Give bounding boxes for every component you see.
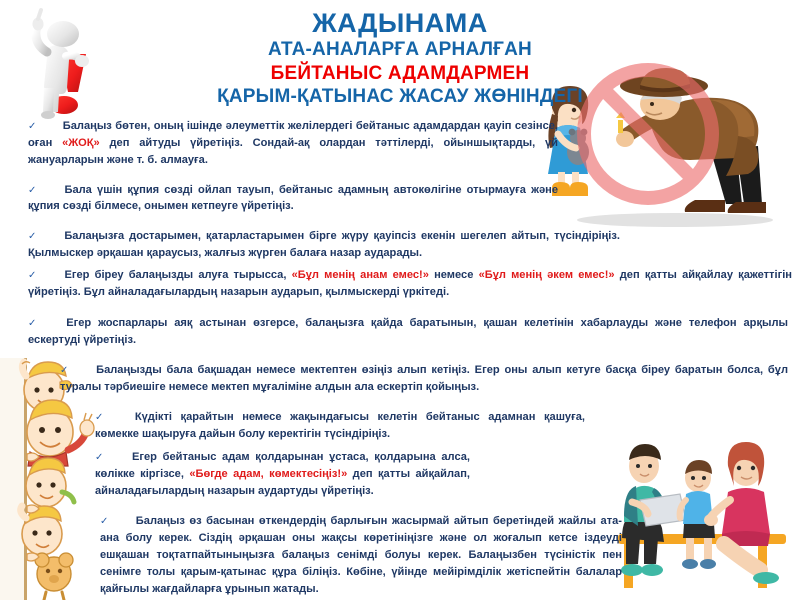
advice-item: ✓Егер жоспарлары аяқ астынан өзгерсе, ба… (28, 315, 788, 349)
poster-canvas: ЖАДЫНАМА АТА-АНАЛАРҒА АРНАЛҒАН БЕЙТАНЫС … (0, 0, 800, 600)
advice-item: ✓Бала үшін құпия сөзді ойлап тауып, бейт… (28, 182, 558, 216)
advice-item: ✓Балаңызды бала бақшадан немесе мектепте… (60, 362, 788, 396)
emphasis-text: «ЖОҚ» (62, 137, 100, 149)
advice-item: ✓Күдікті қарайтын немесе жақындағысы кел… (95, 409, 585, 443)
body-text: Егер жоспарлары аяқ астынан өзгерсе, бал… (28, 317, 788, 346)
emphasis-text: «Бөгде адам, көмектесіңіз!» (189, 468, 347, 480)
check-icon: ✓ (28, 121, 37, 132)
body-text: немесе (429, 269, 479, 281)
emphasis-text: «Бұл менің анам емес!» (292, 269, 429, 281)
check-icon: ✓ (28, 318, 40, 329)
3d-man-with-exclamation-mark-illustration (14, 6, 164, 124)
advice-item: ✓Егер біреу балаңызды алуға тырысса, «Бұ… (28, 267, 792, 301)
advice-item: ✓Егер бейтаныс адам қолдарынан ұстаса, қ… (95, 449, 470, 500)
advice-item: ✓Балаңыз өз басынан өткендердің барлығын… (100, 513, 622, 597)
check-icon: ✓ (100, 516, 110, 527)
check-icon: ✓ (28, 270, 38, 281)
body-text: Балаңыз өз басынан өткендердің барлығын … (100, 515, 622, 594)
body-text: деп айтуды үйретіңіз. Сондай-ақ олардан … (28, 137, 558, 166)
check-icon: ✓ (60, 365, 70, 376)
check-icon: ✓ (28, 231, 38, 242)
advice-item: ✓Балаңыз бөтен, оның ішінде әлеуметтік ж… (28, 118, 558, 169)
body-text: Егер біреу балаңызды алуға тырысса, (64, 269, 291, 281)
advice-list: ✓Балаңыз бөтен, оның ішінде әлеуметтік ж… (0, 118, 800, 598)
body-text: Бала үшін құпия сөзді ойлап тауып, бейта… (28, 184, 558, 213)
body-text: Күдікті қарайтын немесе жақындағысы келе… (95, 411, 585, 440)
check-icon: ✓ (95, 412, 109, 423)
advice-item: ✓Балаңызға достарымен, қатарластарымен б… (28, 228, 620, 262)
check-icon: ✓ (28, 185, 38, 196)
body-text: Балаңызды бала бақшадан немесе мектептен… (60, 364, 788, 393)
check-icon: ✓ (95, 452, 106, 463)
body-text: Балаңызға достарымен, қатарластарымен бі… (28, 230, 620, 259)
emphasis-text: «Бұл менің әкем емес!» (479, 269, 615, 281)
